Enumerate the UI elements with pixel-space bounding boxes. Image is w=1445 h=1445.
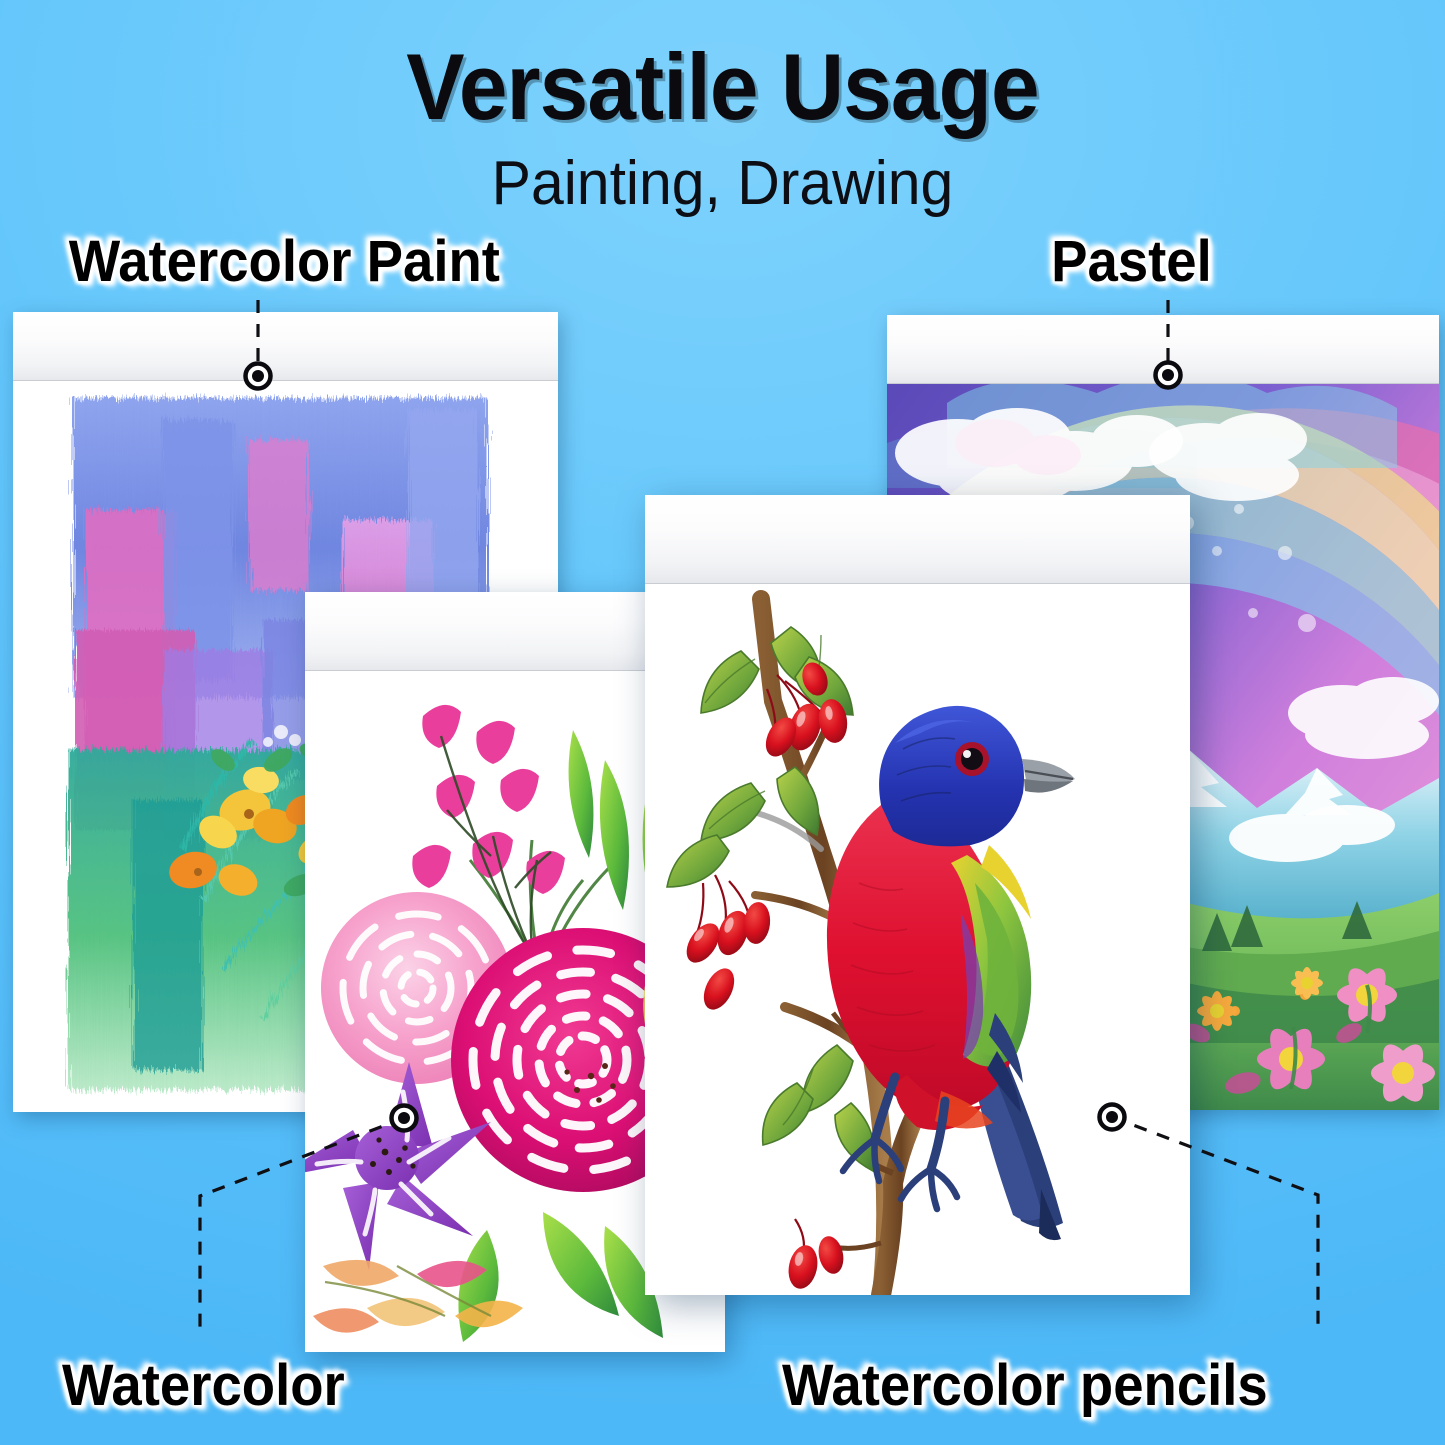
pad-binding-strip [13, 312, 558, 381]
callout-label-watercolor: Watercolor [62, 1352, 345, 1419]
pad-watercolor-pencils [645, 495, 1190, 1295]
callout-label-pastel: Pastel [1051, 228, 1212, 295]
marketing-image: Versatile Usage Painting, Drawing Waterc… [0, 0, 1445, 1445]
pad-binding-strip [645, 495, 1190, 584]
callout-label-watercolor-paint: Watercolor Paint [69, 228, 500, 295]
pad-binding-strip [887, 315, 1439, 384]
artwork-painted-bunting [645, 583, 1190, 1295]
page-subtitle: Painting, Drawing [36, 148, 1409, 219]
paper-sheet [645, 495, 1190, 1295]
callout-label-watercolor-pencils: Watercolor pencils [782, 1352, 1268, 1419]
page-title: Versatile Usage [51, 33, 1395, 141]
